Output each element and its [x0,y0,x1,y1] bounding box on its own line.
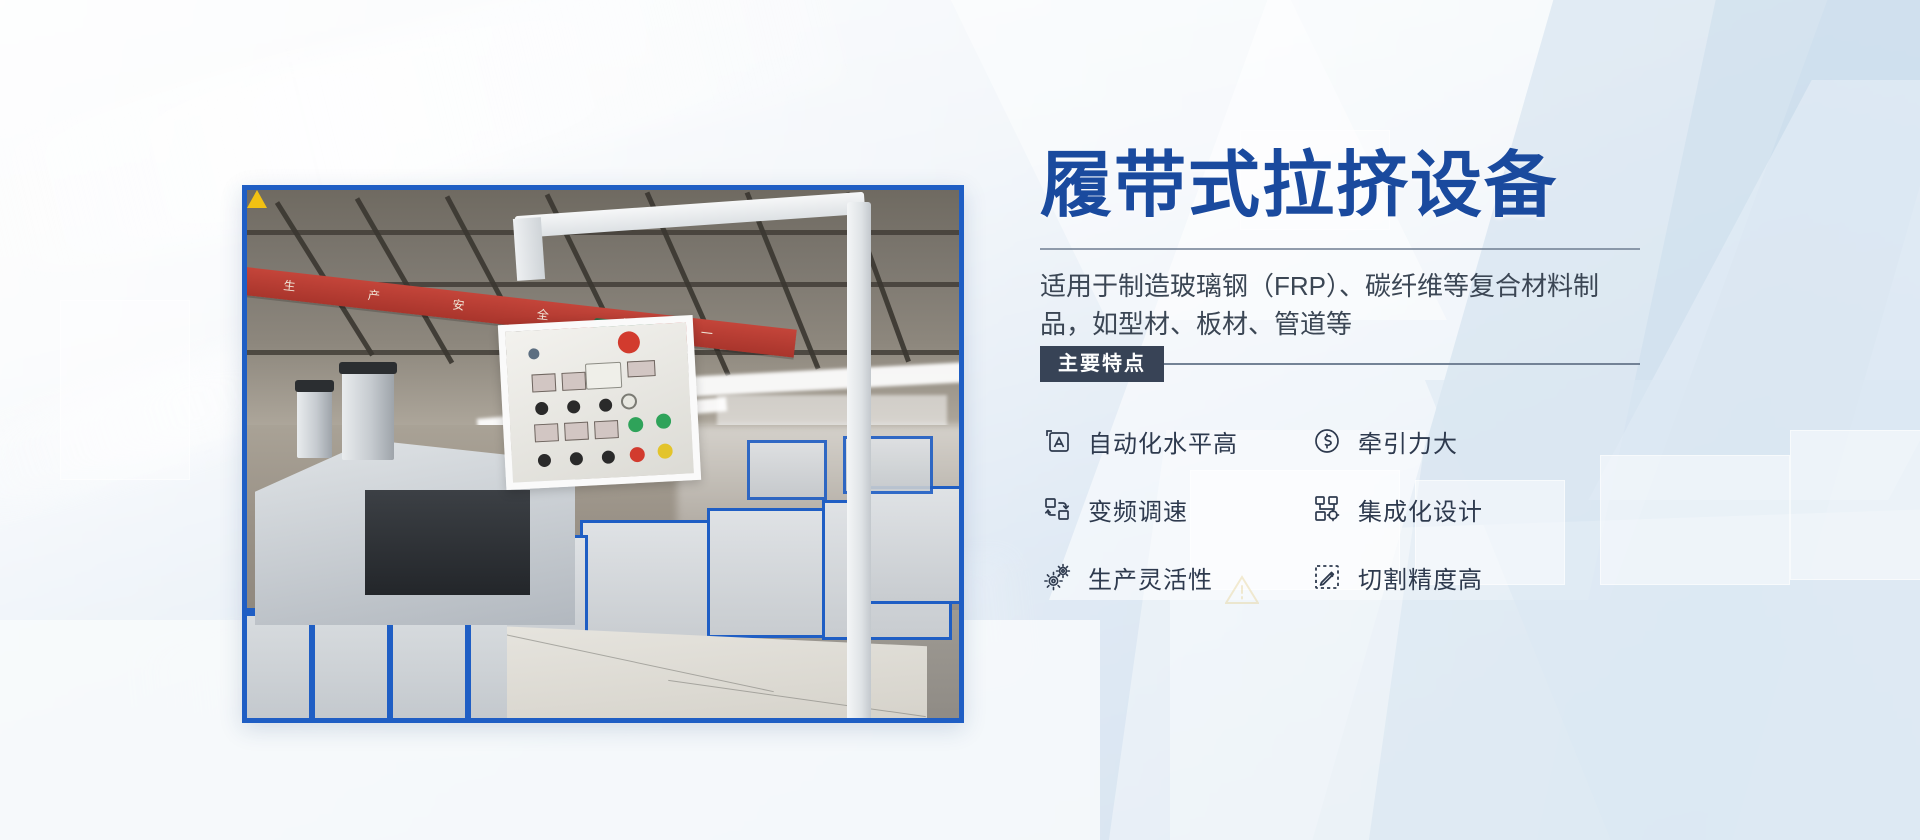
indicator-lamp-icon [528,348,540,360]
digital-display [564,422,589,441]
photo-cabinet [859,486,964,604]
digital-display [627,360,656,377]
photo-machine-opening [365,490,530,595]
crane-char: 安 [452,296,466,314]
feature-label: 集成化设计 [1358,492,1483,527]
precision-pen-icon [1310,560,1344,594]
background-ghost-machine [60,300,190,480]
feature-item-frequency[interactable]: 变频调速 [1040,485,1310,533]
traction-waves-icon [1310,424,1344,458]
product-photo: 生 产 安 全 第 一 [242,185,964,723]
letter-a-frame-icon [1040,424,1074,458]
frequency-transfer-icon [1040,492,1074,526]
photo-gantry-post [847,202,871,723]
photo-gantry-drop [513,217,545,281]
photo-blue-rail [387,614,393,723]
photo-hydraulic-cylinder [342,368,394,460]
feature-label: 自动化水平高 [1088,424,1238,459]
crane-char: 全 [536,305,550,323]
divider-top [1040,248,1640,250]
photo-blue-rail [309,608,315,723]
control-knob [538,454,552,468]
crane-char: 生 [283,276,297,294]
crane-char: 产 [367,286,381,304]
feature-item-automation[interactable]: 自动化水平高 [1040,417,1310,465]
indicator-lamp-icon [629,447,645,463]
photo-cabinet [580,520,710,645]
feature-item-integration[interactable]: 集成化设计 [1310,485,1580,533]
digital-display [561,372,586,391]
feature-item-traction[interactable]: 牵引力大 [1310,417,1580,465]
photo-cabinet [747,440,827,500]
product-banner: 生 产 安 全 第 一 [0,0,1920,840]
analog-gauge [585,362,622,390]
photo-cylinder-cap [339,362,397,374]
digital-display [531,373,556,392]
indicator-lamp-icon [628,417,644,433]
indicator-lamp-icon [657,443,673,459]
photo-control-panel [498,315,701,490]
background-ghost-machine [1790,430,1920,580]
control-knob [570,452,584,466]
digital-display [594,420,619,439]
control-knob [599,398,613,412]
control-knob [602,450,616,464]
photo-blue-rail [247,720,509,723]
feature-label: 牵引力大 [1358,424,1458,459]
analog-gauge [621,393,638,410]
photo-cylinder-cap [295,380,334,392]
integration-hierarchy-icon [1310,492,1344,526]
feature-item-flexibility[interactable]: 生产灵活性 [1040,553,1310,601]
banner-content: 履带式拉挤设备 适用于制造玻璃钢（FRP）、碳纤维等复合材料制品，如型材、板材、… [1040,150,1660,601]
photo-hydraulic-cylinder [297,386,332,458]
status-badge: 主要特点 [1040,346,1164,382]
crane-char: 一 [700,324,714,342]
gears-icon [1040,560,1074,594]
divider-bottom: 主要特点 [1040,363,1640,365]
photo-blue-rail [465,620,471,723]
feature-list: 自动化水平高 牵引力大 [1040,417,1660,601]
feature-item-cutting-precision[interactable]: 切割精度高 [1310,553,1580,601]
indicator-lamp-icon [656,413,672,429]
product-description: 适用于制造玻璃钢（FRP）、碳纤维等复合材料制品，如型材、板材、管道等 [1040,268,1640,343]
control-knob [567,400,581,414]
control-knob [535,402,549,416]
emergency-stop-icon [617,331,640,354]
feature-label: 生产灵活性 [1088,560,1213,595]
feature-label: 变频调速 [1088,492,1188,527]
page-title: 履带式拉挤设备 [1040,150,1660,222]
photo-cabinet [707,508,827,638]
digital-display [534,423,559,442]
feature-label: 切割精度高 [1358,560,1483,595]
